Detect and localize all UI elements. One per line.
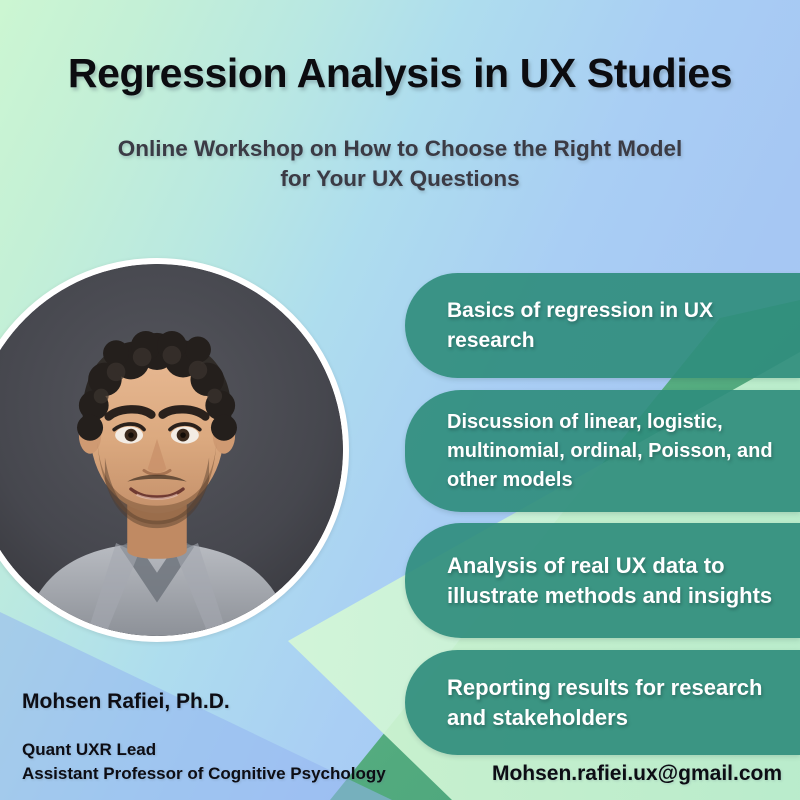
topic-card-text: Basics of regression in UX research xyxy=(447,296,786,356)
topic-card-models: Discussion of linear, logistic, multinom… xyxy=(405,390,800,512)
presenter-portrait xyxy=(0,258,349,642)
presenter-role-line-2: Assistant Professor of Cognitive Psychol… xyxy=(22,762,386,786)
headshot-illustration xyxy=(0,264,343,636)
presenter-role-line-1: Quant UXR Lead xyxy=(22,738,386,762)
avatar xyxy=(0,264,343,636)
topic-card-analysis: Analysis of real UX data to illustrate m… xyxy=(405,523,800,638)
topic-card-text: Discussion of linear, logistic, multinom… xyxy=(447,408,786,495)
topic-card-text: Reporting results for research and stake… xyxy=(447,673,786,733)
poster-subtitle-line-1: Online Workshop on How to Choose the Rig… xyxy=(50,134,750,164)
topic-card-text: Analysis of real UX data to illustrate m… xyxy=(447,551,786,611)
workshop-poster: Regression Analysis in UX Studies Online… xyxy=(0,0,800,800)
presenter-email: Mohsen.rafiei.ux@gmail.com xyxy=(492,762,782,786)
poster-subtitle-line-2: for Your UX Questions xyxy=(50,164,750,194)
poster-title: Regression Analysis in UX Studies xyxy=(0,50,800,97)
topic-card-reporting: Reporting results for research and stake… xyxy=(405,650,800,755)
presenter-roles: Quant UXR Lead Assistant Professor of Co… xyxy=(22,738,386,786)
topic-card-basics: Basics of regression in UX research xyxy=(405,273,800,378)
poster-subtitle: Online Workshop on How to Choose the Rig… xyxy=(50,134,750,194)
presenter-name: Mohsen Rafiei, Ph.D. xyxy=(22,690,230,714)
